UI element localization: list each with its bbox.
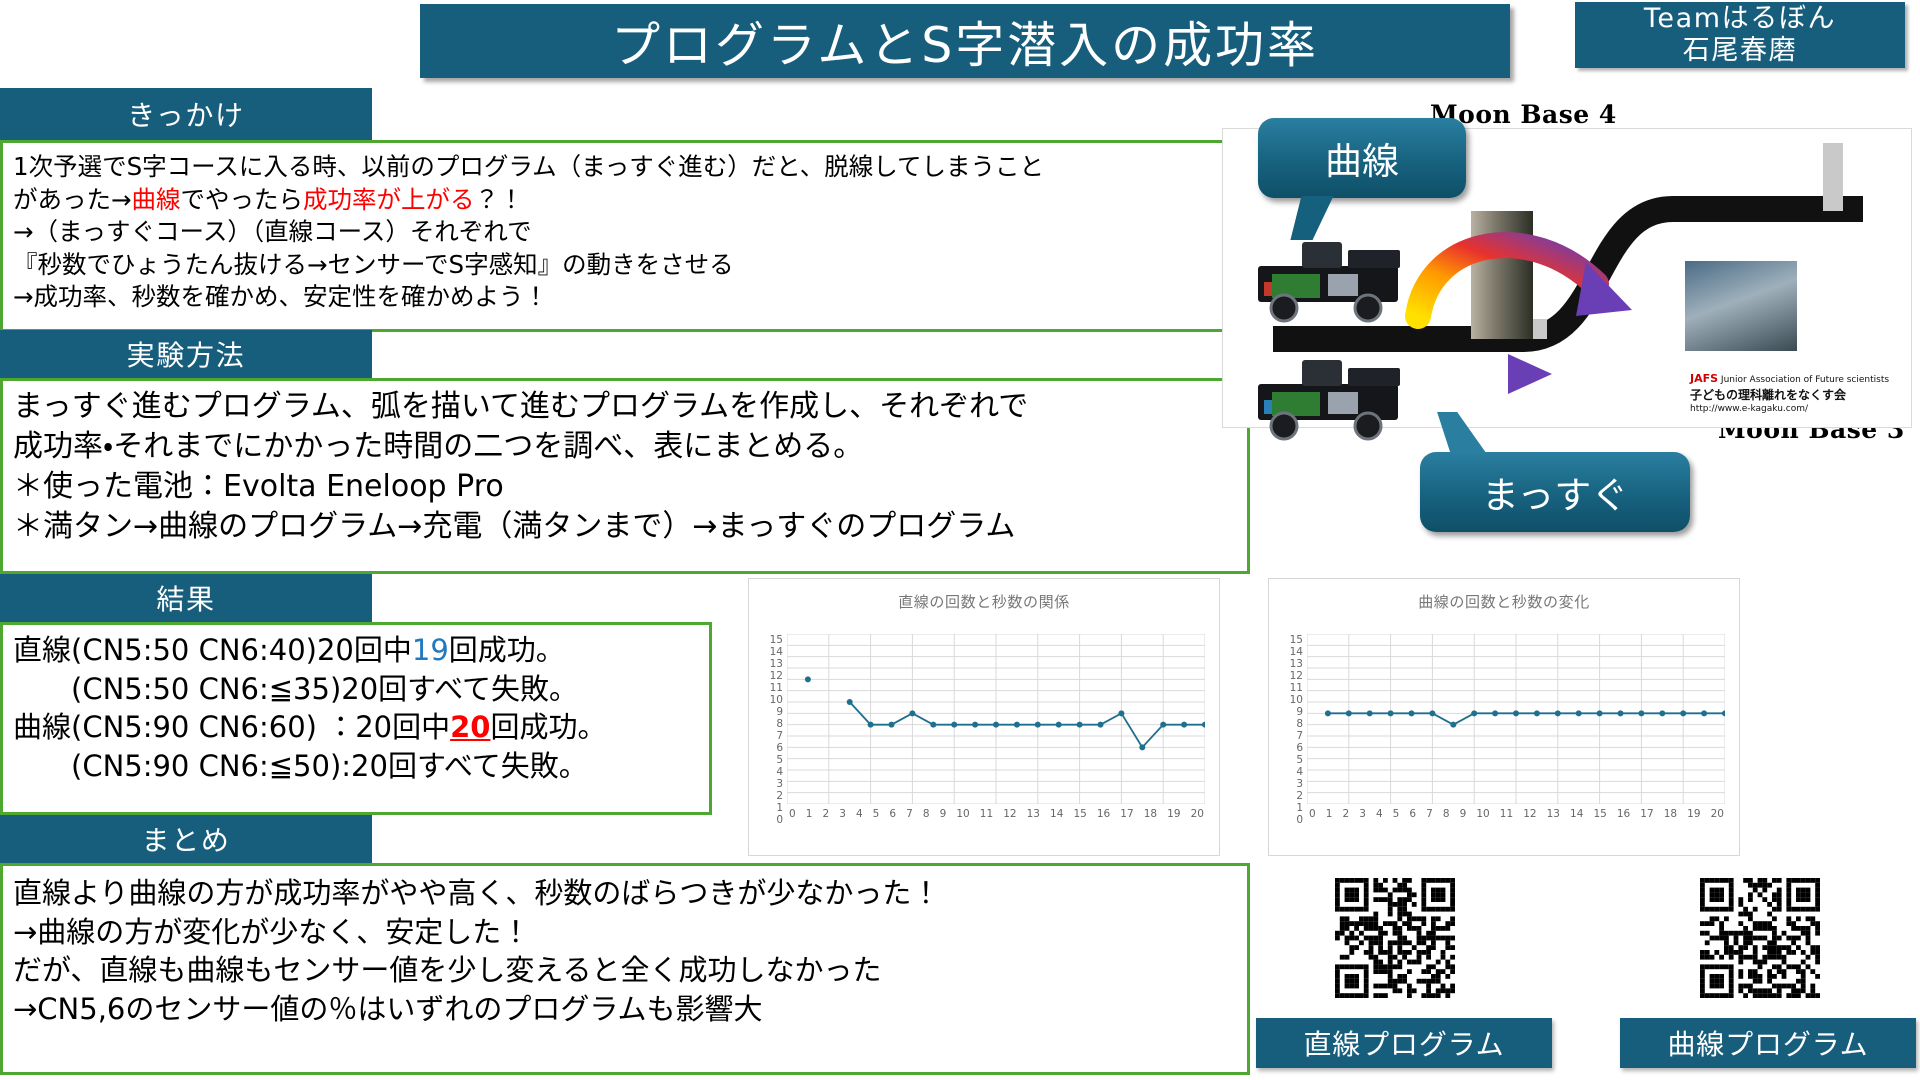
y-tick-label: 5 <box>776 754 783 766</box>
text-run: (CN5:90 CN6:≦50):20回すべて失敗。 <box>13 749 588 783</box>
y-tick-label: 11 <box>770 682 783 694</box>
chart-chokusen-plotarea: 1514131211109876543210 01234567891011121… <box>749 612 1219 826</box>
x-tick-label: 19 <box>1687 808 1700 820</box>
page-title: プログラムとS字潜入の成功率 <box>420 4 1510 78</box>
data-point <box>1429 710 1435 716</box>
x-tick-label: 3 <box>1359 808 1366 820</box>
data-point <box>1118 710 1124 716</box>
section-header-kikkake: きっかけ <box>0 88 372 140</box>
x-tick-label: 15 <box>1593 808 1606 820</box>
y-tick-label: 14 <box>1290 646 1303 658</box>
x-tick-label: 6 <box>889 808 896 820</box>
y-tick-label: 1 <box>776 802 783 814</box>
team-member-name: 石尾春磨 <box>1683 35 1797 67</box>
text-run: ？！ <box>475 185 524 214</box>
data-point <box>1409 710 1415 716</box>
text-run: があった→ <box>13 185 132 214</box>
data-point <box>1035 722 1041 728</box>
data-point <box>1638 710 1644 716</box>
text-run: だが、直線も曲線もセンサー値を少し変えると全く成功しなかった <box>13 953 882 987</box>
data-point <box>1534 710 1540 716</box>
text-line: →CN5,6のセンサー値の％はいずれのプログラムも影響大 <box>13 990 1237 1029</box>
text-line: →（まっすぐコース）（直線コース）それぞれで <box>13 216 1213 249</box>
x-tick-label: 14 <box>1050 808 1063 820</box>
data-point <box>1077 722 1083 728</box>
data-point <box>1659 710 1665 716</box>
y-tick-label: 12 <box>1290 670 1303 682</box>
label-kyokusen-program[interactable]: 曲線プログラム <box>1620 1018 1916 1068</box>
text-line: ＊使った電池：Evolta Eneloop Pro <box>13 467 1237 507</box>
data-point <box>1492 710 1498 716</box>
data-point <box>993 722 999 728</box>
data-point <box>1388 710 1394 716</box>
text-run: 回成功。 <box>490 710 606 744</box>
x-tick-label: 0 <box>789 808 796 820</box>
text-run: →成功率、秒数を確かめ、安定性を確かめよう！ <box>13 282 548 311</box>
text-run: 曲線(CN5:90 CN6:60) ：20回中 <box>13 710 450 744</box>
x-tick-label: 16 <box>1097 808 1110 820</box>
qr-matrix <box>1335 878 1455 998</box>
text-run: 曲線 <box>132 185 181 214</box>
x-tick-label: 5 <box>873 808 880 820</box>
x-tick-label: 17 <box>1640 808 1653 820</box>
y-tick-label: 4 <box>1296 766 1303 778</box>
section-body-matome: 直線より曲線の方が成功率がやや高く、秒数のばらつきが少なかった！→曲線の方が変化… <box>0 863 1250 1075</box>
text-run: 成功率・それまでにかかった時間の二つを調べ、表にまとめる。 <box>13 429 863 464</box>
y-tick-label: 14 <box>770 646 783 658</box>
y-tick-label: 12 <box>770 670 783 682</box>
x-tick-label: 17 <box>1120 808 1133 820</box>
x-tick-label: 10 <box>956 808 969 820</box>
data-point <box>1160 722 1166 728</box>
data-point <box>1701 710 1707 716</box>
y-tick-label: 1 <box>1296 802 1303 814</box>
text-line: まっすぐ進むプログラム、弧を描いて進むプログラムを作成し、それぞれで <box>13 387 1237 427</box>
data-point <box>1346 710 1352 716</box>
text-line: 『秒数でひょうたん抜ける→センサーでS字感知』の動きをさせる <box>13 249 1213 282</box>
chart-kyokusen-plotarea: 1514131211109876543210 01234567891011121… <box>1269 612 1739 826</box>
team-name-line1: Teamはるぼん <box>1644 3 1836 35</box>
text-line: →成功率、秒数を確かめ、安定性を確かめよう！ <box>13 281 1213 314</box>
x-tick-label: 13 <box>1547 808 1560 820</box>
chart-svg <box>1307 634 1725 804</box>
y-tick-label: 2 <box>776 790 783 802</box>
data-point <box>1450 722 1456 728</box>
text-run: 回成功。 <box>449 633 565 667</box>
chart-kyokusen-y-axis: 1514131211109876543210 <box>1277 634 1303 804</box>
text-line: 直線より曲線の方が成功率がやや高く、秒数のばらつきが少なかった！ <box>13 874 1237 913</box>
chart-svg <box>787 634 1205 804</box>
x-tick-label: 11 <box>980 808 993 820</box>
x-tick-label: 6 <box>1409 808 1416 820</box>
text-line: 直線(CN5:50 CN6:40)20回中19回成功。 <box>13 631 699 670</box>
data-point <box>909 710 915 716</box>
text-run: 成功率が上がる <box>303 185 475 214</box>
text-line: (CN5:90 CN6:≦50):20回すべて失敗。 <box>13 747 699 786</box>
y-tick-label: 6 <box>1296 742 1303 754</box>
chart-kyokusen-canvas <box>1307 634 1725 804</box>
x-tick-label: 8 <box>923 808 930 820</box>
y-tick-label: 13 <box>1290 658 1303 670</box>
x-tick-label: 2 <box>822 808 829 820</box>
x-tick-label: 18 <box>1144 808 1157 820</box>
curved-path-arrow <box>1400 198 1680 368</box>
chart-chokusen-y-axis: 1514131211109876543210 <box>757 634 783 804</box>
chart-chokusen-canvas <box>787 634 1205 804</box>
x-tick-label: 18 <box>1664 808 1677 820</box>
x-tick-label: 14 <box>1570 808 1583 820</box>
x-tick-label: 10 <box>1476 808 1489 820</box>
text-line: →曲線の方が変化が少なく、安定した！ <box>13 913 1237 952</box>
team-name-badge: Teamはるぼん 石尾春磨 <box>1575 2 1905 68</box>
text-line: があった→曲線でやったら成功率が上がる？！ <box>13 184 1213 217</box>
y-tick-label: 10 <box>770 694 783 706</box>
y-tick-label: 9 <box>1296 706 1303 718</box>
section-header-matome: まとめ <box>0 815 372 863</box>
x-tick-label: 12 <box>1523 808 1536 820</box>
x-tick-label: 19 <box>1167 808 1180 820</box>
chart-kyokusen-x-axis: 01234567891011121314151617181920 <box>1309 808 1724 820</box>
x-tick-label: 3 <box>839 808 846 820</box>
straight-path-arrow <box>1400 346 1570 406</box>
data-point <box>847 699 853 705</box>
y-tick-label: 7 <box>1296 730 1303 742</box>
y-tick-label: 8 <box>1296 718 1303 730</box>
section-header-jikken-houhou: 実験方法 <box>0 330 372 378</box>
y-tick-label: 5 <box>1296 754 1303 766</box>
jafs-logo-bottom: JAFS <box>1690 372 1718 385</box>
data-point <box>1680 710 1686 716</box>
data-point <box>868 722 874 728</box>
y-tick-label: 2 <box>1296 790 1303 802</box>
callout-kyokusen: 曲線 <box>1258 118 1466 198</box>
chart-chokusen: 直線の回数と秒数の関係 1514131211109876543210 01234… <box>748 578 1220 856</box>
text-run: 20 <box>450 710 490 744</box>
gate-marker-top <box>1823 143 1843 211</box>
y-tick-label: 3 <box>1296 778 1303 790</box>
jafs-en-bottom: Junior Association of Future scientists <box>1721 375 1889 385</box>
text-run: 直線(CN5:50 CN6:40)20回中 <box>13 633 412 667</box>
data-point <box>1722 710 1725 716</box>
text-run: 直線より曲線の方が成功率がやや高く、秒数のばらつきが少なかった！ <box>13 876 940 910</box>
data-point <box>1597 710 1603 716</box>
x-tick-label: 4 <box>856 808 863 820</box>
poster-root: プログラムとS字潜入の成功率 Teamはるぼん 石尾春磨 きっかけ 1次予選でS… <box>0 0 1920 1080</box>
text-run: →曲線の方が変化が少なく、安定した！ <box>13 915 530 949</box>
chart-chokusen-x-axis: 01234567891011121314151617181920 <box>789 808 1204 820</box>
y-tick-label: 6 <box>776 742 783 754</box>
qr-matrix <box>1700 878 1820 998</box>
y-tick-label: 4 <box>776 766 783 778</box>
data-point <box>805 676 811 682</box>
y-tick-label: 7 <box>776 730 783 742</box>
chart-kyokusen-title: 曲線の回数と秒数の変化 <box>1269 579 1739 612</box>
text-run: 1次予選でS字コースに入る時、以前のプログラム（まっすぐ進む）だと、脱線してしま… <box>13 152 1044 181</box>
data-point <box>930 722 936 728</box>
x-tick-label: 9 <box>940 808 947 820</box>
y-tick-label: 15 <box>1290 634 1303 646</box>
x-tick-label: 7 <box>906 808 913 820</box>
text-run: ＊使った電池：Evolta Eneloop Pro <box>13 469 504 504</box>
x-tick-label: 8 <box>1443 808 1450 820</box>
text-run: →CN5,6のセンサー値の％はいずれのプログラムも影響大 <box>13 992 763 1026</box>
x-tick-label: 1 <box>806 808 813 820</box>
data-point <box>1555 710 1561 716</box>
data-point <box>1181 722 1187 728</box>
data-point <box>1098 722 1104 728</box>
section-body-kekka: 直線(CN5:50 CN6:40)20回中19回成功。 (CN5:50 CN6:… <box>0 622 712 815</box>
x-tick-label: 16 <box>1617 808 1630 820</box>
y-tick-label: 9 <box>776 706 783 718</box>
x-tick-label: 15 <box>1073 808 1086 820</box>
data-point <box>1576 710 1582 716</box>
qr-code-kyokusen-program[interactable] <box>1700 878 1820 998</box>
data-point <box>1471 710 1477 716</box>
data-point <box>889 722 895 728</box>
y-tick-label: 15 <box>770 634 783 646</box>
data-point <box>1325 710 1331 716</box>
data-point <box>1202 722 1205 728</box>
text-line: ＊満タン→曲線のプログラム→充電（満タンまで）→まっすぐのプログラム <box>13 507 1237 547</box>
data-point <box>1367 710 1373 716</box>
jafs-footer-logo: JAFS Junior Association of Future scient… <box>1690 372 1920 408</box>
section-body-jikken-houhou: まっすぐ進むプログラム、弧を描いて進むプログラムを作成し、それぞれで成功率・それ… <box>0 378 1250 574</box>
text-run: でやったら <box>181 185 304 214</box>
text-run: ＊満タン→曲線のプログラム→充電（満タンまで）→まっすぐのプログラム <box>13 509 1015 544</box>
data-point <box>1618 710 1624 716</box>
data-point <box>951 722 957 728</box>
x-tick-label: 0 <box>1309 808 1316 820</box>
chart-chokusen-title: 直線の回数と秒数の関係 <box>749 579 1219 612</box>
text-line: 1次予選でS字コースに入る時、以前のプログラム（まっすぐ進む）だと、脱線してしま… <box>13 151 1213 184</box>
x-tick-label: 5 <box>1393 808 1400 820</box>
text-line: 成功率・それまでにかかった時間の二つを調べ、表にまとめる。 <box>13 427 1237 467</box>
text-run: 19 <box>412 633 449 667</box>
data-point <box>1014 722 1020 728</box>
x-tick-label: 13 <box>1027 808 1040 820</box>
text-run: (CN5:50 CN6:≦35)20回すべて失敗。 <box>13 672 578 706</box>
callout-massugu: まっすぐ <box>1420 452 1690 532</box>
y-tick-label: 0 <box>1296 814 1303 826</box>
chart-kyokusen: 曲線の回数と秒数の変化 1514131211109876543210 01234… <box>1268 578 1740 856</box>
callout-massugu-label: まっすぐ <box>1482 465 1629 519</box>
qr-code-chokusen-program[interactable] <box>1335 878 1455 998</box>
jafs-url-bottom: http://www.e-kagaku.com/ <box>1690 403 1920 415</box>
x-tick-label: 20 <box>1711 808 1724 820</box>
x-tick-label: 2 <box>1342 808 1349 820</box>
x-tick-label: 7 <box>1426 808 1433 820</box>
jafs-jp-bottom: 子どもの理科離れをなくす会 <box>1690 387 1920 403</box>
data-point <box>1513 710 1519 716</box>
text-run: →（まっすぐコース）（直線コース）それぞれで <box>13 217 532 246</box>
text-line: だが、直線も曲線もセンサー値を少し変えると全く成功しなかった <box>13 951 1237 990</box>
y-tick-label: 0 <box>776 814 783 826</box>
x-tick-label: 20 <box>1191 808 1204 820</box>
x-tick-label: 4 <box>1376 808 1383 820</box>
data-point <box>1139 744 1145 750</box>
y-tick-label: 11 <box>1290 682 1303 694</box>
x-tick-label: 1 <box>1326 808 1333 820</box>
section-header-kekka: 結果 <box>0 574 372 622</box>
callout-kyokusen-label: 曲線 <box>1325 131 1399 185</box>
data-point <box>972 722 978 728</box>
data-point <box>1056 722 1062 728</box>
x-tick-label: 9 <box>1460 808 1467 820</box>
x-tick-label: 11 <box>1500 808 1513 820</box>
y-tick-label: 3 <box>776 778 783 790</box>
course-photo-track <box>1685 261 1797 351</box>
text-line: 曲線(CN5:90 CN6:60) ：20回中20回成功。 <box>13 708 699 747</box>
label-chokusen-program[interactable]: 直線プログラム <box>1256 1018 1552 1068</box>
text-run: 『秒数でひょうたん抜ける→センサーでS字感知』の動きをさせる <box>13 250 734 279</box>
y-tick-label: 8 <box>776 718 783 730</box>
series-line <box>1328 713 1725 724</box>
text-line: (CN5:50 CN6:≦35)20回すべて失敗。 <box>13 670 699 709</box>
x-tick-label: 12 <box>1003 808 1016 820</box>
text-run: まっすぐ進むプログラム、弧を描いて進むプログラムを作成し、それぞれで <box>13 389 1028 424</box>
y-tick-label: 13 <box>770 658 783 670</box>
section-body-kikkake: 1次予選でS字コースに入る時、以前のプログラム（まっすぐ進む）だと、脱線してしま… <box>0 140 1226 332</box>
y-tick-label: 10 <box>1290 694 1303 706</box>
